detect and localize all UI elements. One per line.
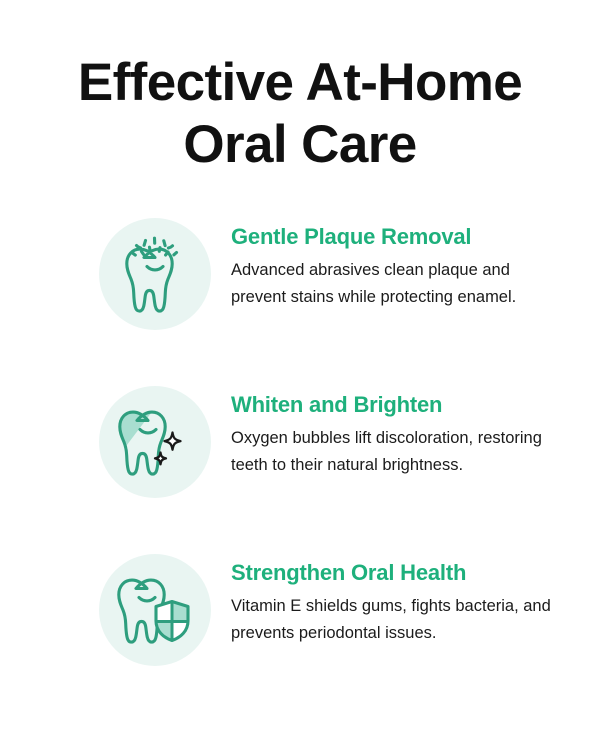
page-title: Effective At-Home Oral Care bbox=[0, 0, 600, 176]
feature-body: Vitamin E shields gums, fights bacteria,… bbox=[231, 593, 566, 647]
feature-heading: Gentle Plaque Removal bbox=[231, 223, 566, 251]
feature-list: Gentle Plaque Removal Advanced abrasives… bbox=[0, 218, 600, 666]
feature-heading: Strengthen Oral Health bbox=[231, 559, 566, 587]
tooth-sparkle-icon bbox=[115, 402, 195, 482]
feature-body: Oxygen bubbles lift discoloration, resto… bbox=[231, 425, 566, 479]
feature-text-block: Strengthen Oral Health Vitamin E shields… bbox=[211, 554, 566, 647]
feature-heading: Whiten and Brighten bbox=[231, 391, 566, 419]
feature-text-block: Gentle Plaque Removal Advanced abrasives… bbox=[211, 218, 566, 311]
feature-item-strengthen-oral-health: Strengthen Oral Health Vitamin E shields… bbox=[99, 554, 566, 666]
feature-body: Advanced abrasives clean plaque and prev… bbox=[231, 257, 566, 311]
icon-circle-background bbox=[99, 554, 211, 666]
tooth-plaque-icon bbox=[116, 234, 194, 314]
icon-circle-background bbox=[99, 386, 211, 498]
oral-care-infographic: Effective At-Home Oral Care bbox=[0, 0, 600, 750]
page-title-line-1: Effective At-Home bbox=[0, 52, 600, 114]
feature-item-gentle-plaque-removal: Gentle Plaque Removal Advanced abrasives… bbox=[99, 218, 566, 330]
icon-circle-background bbox=[99, 218, 211, 330]
tooth-shield-icon bbox=[114, 570, 196, 650]
page-title-line-2: Oral Care bbox=[0, 114, 600, 176]
feature-item-whiten-and-brighten: Whiten and Brighten Oxygen bubbles lift … bbox=[99, 386, 566, 498]
feature-text-block: Whiten and Brighten Oxygen bubbles lift … bbox=[211, 386, 566, 479]
